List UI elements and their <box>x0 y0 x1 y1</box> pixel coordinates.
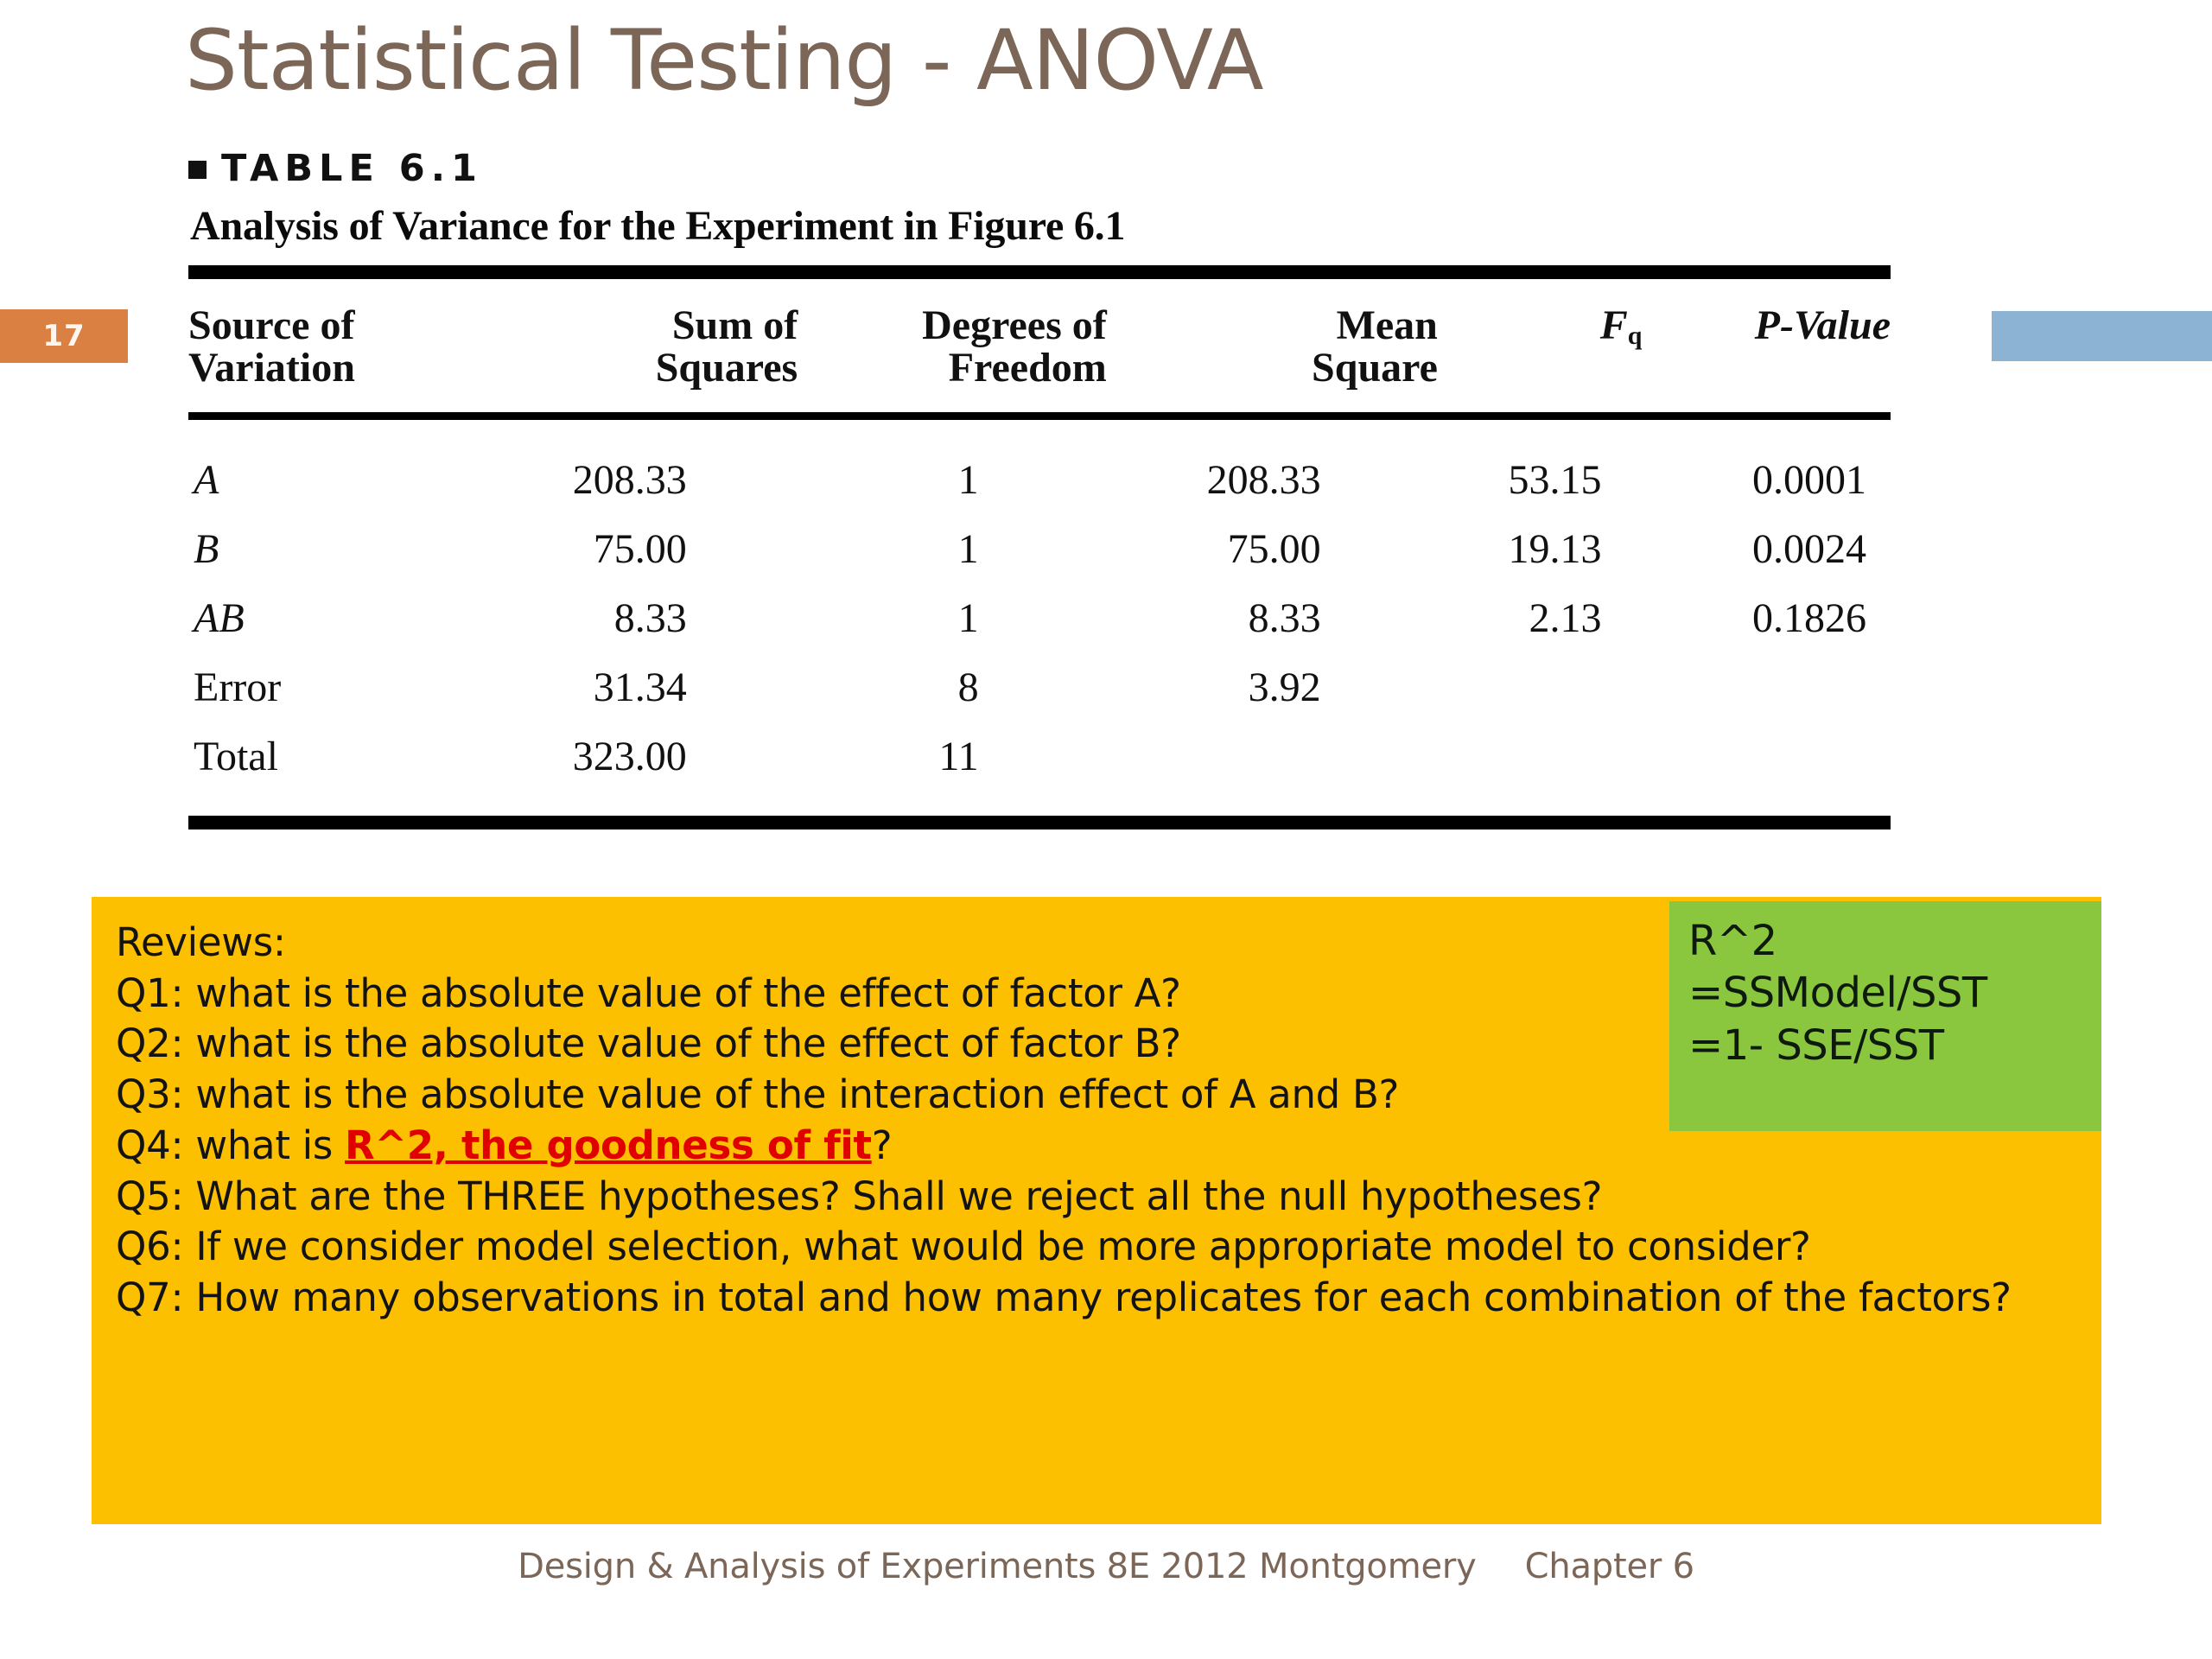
cell-p-value: 0.1826 <box>1653 584 1891 653</box>
table-header-row: Source of Variation Sum of Squares Degre… <box>188 305 1891 390</box>
cell-p-value: 0.0001 <box>1653 446 1891 515</box>
cell-mean-square <box>1050 722 1425 791</box>
column-header-source-line2: Variation <box>188 347 474 390</box>
column-header-ms-line2: Square <box>1107 347 1438 390</box>
table-row: A 208.33 1 208.33 53.15 0.0001 <box>188 446 1891 515</box>
column-header-source-line1: Source of <box>188 305 474 347</box>
cell-degrees-of-freedom: 8 <box>749 653 1050 722</box>
footer-source: Design & Analysis of Experiments 8E 2012… <box>518 1547 1477 1586</box>
cell-f-statistic <box>1425 722 1654 791</box>
column-header-f-line2: Fq <box>1438 305 1643 350</box>
body-spacer-row <box>188 420 1891 446</box>
review-q4-prefix: Q4: what is <box>116 1122 345 1168</box>
cell-source: AB <box>188 584 422 653</box>
r2-formula-box: R^2 =SSModel/SST =1- SSE/SST <box>1669 901 2101 1131</box>
review-question-7: Q7: How many observations in total and h… <box>116 1273 2043 1324</box>
column-header-p-value: P-Value <box>1642 305 1891 390</box>
cell-source: A <box>188 446 422 515</box>
page-title: Statistical Testing - ANOVA <box>185 19 1263 112</box>
table-rule-top <box>188 265 1891 279</box>
cell-mean-square: 3.92 <box>1050 653 1425 722</box>
cell-degrees-of-freedom: 1 <box>749 584 1050 653</box>
slide-number-text: 17 <box>42 319 85 353</box>
header-spacer <box>188 279 1891 305</box>
cell-f-statistic <box>1425 653 1654 722</box>
body-spacer <box>188 420 1891 446</box>
blue-accent-bar <box>1992 311 2212 361</box>
cell-sum-of-squares: 31.34 <box>422 653 749 722</box>
cell-f-statistic: 53.15 <box>1425 446 1654 515</box>
r2-formula-ssmodel: =SSModel/SST <box>1688 967 2101 1019</box>
cell-f-statistic: 19.13 <box>1425 515 1654 584</box>
table-row: Error 31.34 8 3.92 <box>188 653 1891 722</box>
column-header-mean-square: Mean Square <box>1107 305 1438 390</box>
anova-table-body: A 208.33 1 208.33 53.15 0.0001 B 75.00 1… <box>188 420 1891 816</box>
column-header-df-line2: Freedom <box>798 347 1107 390</box>
column-header-df-line1: Degrees of <box>798 305 1107 347</box>
square-bullet-icon <box>188 161 207 179</box>
table-label: TABLE 6.1 <box>188 147 1891 190</box>
column-header-f-statistic: Fq <box>1438 305 1643 390</box>
footer-chapter: Chapter 6 <box>1525 1547 1694 1586</box>
cell-degrees-of-freedom: 1 <box>749 446 1050 515</box>
column-header-degrees-of-freedom: Degrees of Freedom <box>798 305 1107 390</box>
cell-p-value <box>1653 722 1891 791</box>
cell-mean-square: 8.33 <box>1050 584 1425 653</box>
cell-source: Error <box>188 653 422 722</box>
cell-degrees-of-freedom: 1 <box>749 515 1050 584</box>
review-question-5: Q5: What are the THREE hypotheses? Shall… <box>116 1172 2101 1223</box>
cell-mean-square: 75.00 <box>1050 515 1425 584</box>
table-header: Source of Variation Sum of Squares Degre… <box>188 279 1891 412</box>
column-header-sum-of-squares: Sum of Squares <box>474 305 798 390</box>
table-rule-header <box>188 412 1891 420</box>
table-row: B 75.00 1 75.00 19.13 0.0024 <box>188 515 1891 584</box>
column-header-p-line2: P-Value <box>1642 305 1891 347</box>
review-q4-suffix: ? <box>872 1122 893 1168</box>
table-row: AB 8.33 1 8.33 2.13 0.1826 <box>188 584 1891 653</box>
body-spacer-row-bottom <box>188 791 1891 816</box>
anova-table: Source of Variation Sum of Squares Degre… <box>188 279 1891 412</box>
cell-p-value: 0.0024 <box>1653 515 1891 584</box>
r2-formula-sse: =1- SSE/SST <box>1688 1020 2101 1071</box>
table-header-spacer-row <box>188 279 1891 305</box>
cell-sum-of-squares: 8.33 <box>422 584 749 653</box>
slide-number-badge: 17 <box>0 309 128 363</box>
f-subscript: q <box>1628 321 1643 350</box>
review-q4-highlight: R^2, the goodness of fit <box>345 1122 872 1168</box>
cell-degrees-of-freedom: 11 <box>749 722 1050 791</box>
slide-footer: Design & Analysis of Experiments 8E 2012… <box>0 1547 2212 1586</box>
cell-f-statistic: 2.13 <box>1425 584 1654 653</box>
cell-sum-of-squares: 208.33 <box>422 446 749 515</box>
anova-table-block: TABLE 6.1 Analysis of Variance for the E… <box>188 147 1891 829</box>
column-header-ss-line1: Sum of <box>474 305 798 347</box>
header-spacer-bottom <box>188 390 1891 412</box>
cell-mean-square: 208.33 <box>1050 446 1425 515</box>
cell-p-value <box>1653 653 1891 722</box>
cell-sum-of-squares: 323.00 <box>422 722 749 791</box>
table-row: Total 323.00 11 <box>188 722 1891 791</box>
table-label-text: TABLE 6.1 <box>221 147 483 190</box>
table-caption: Analysis of Variance for the Experiment … <box>190 202 1891 250</box>
body-spacer-bottom <box>188 791 1891 816</box>
f-symbol: F <box>1600 302 1628 348</box>
column-header-ms-line1: Mean <box>1107 305 1438 347</box>
cell-source: B <box>188 515 422 584</box>
review-question-6: Q6: If we consider model selection, what… <box>116 1222 2101 1273</box>
r2-label: R^2 <box>1688 915 2101 967</box>
table-rule-bottom <box>188 816 1891 829</box>
column-header-source: Source of Variation <box>188 305 474 390</box>
table-header-spacer-row-bottom <box>188 390 1891 412</box>
column-header-ss-line2: Squares <box>474 347 798 390</box>
cell-source: Total <box>188 722 422 791</box>
cell-sum-of-squares: 75.00 <box>422 515 749 584</box>
